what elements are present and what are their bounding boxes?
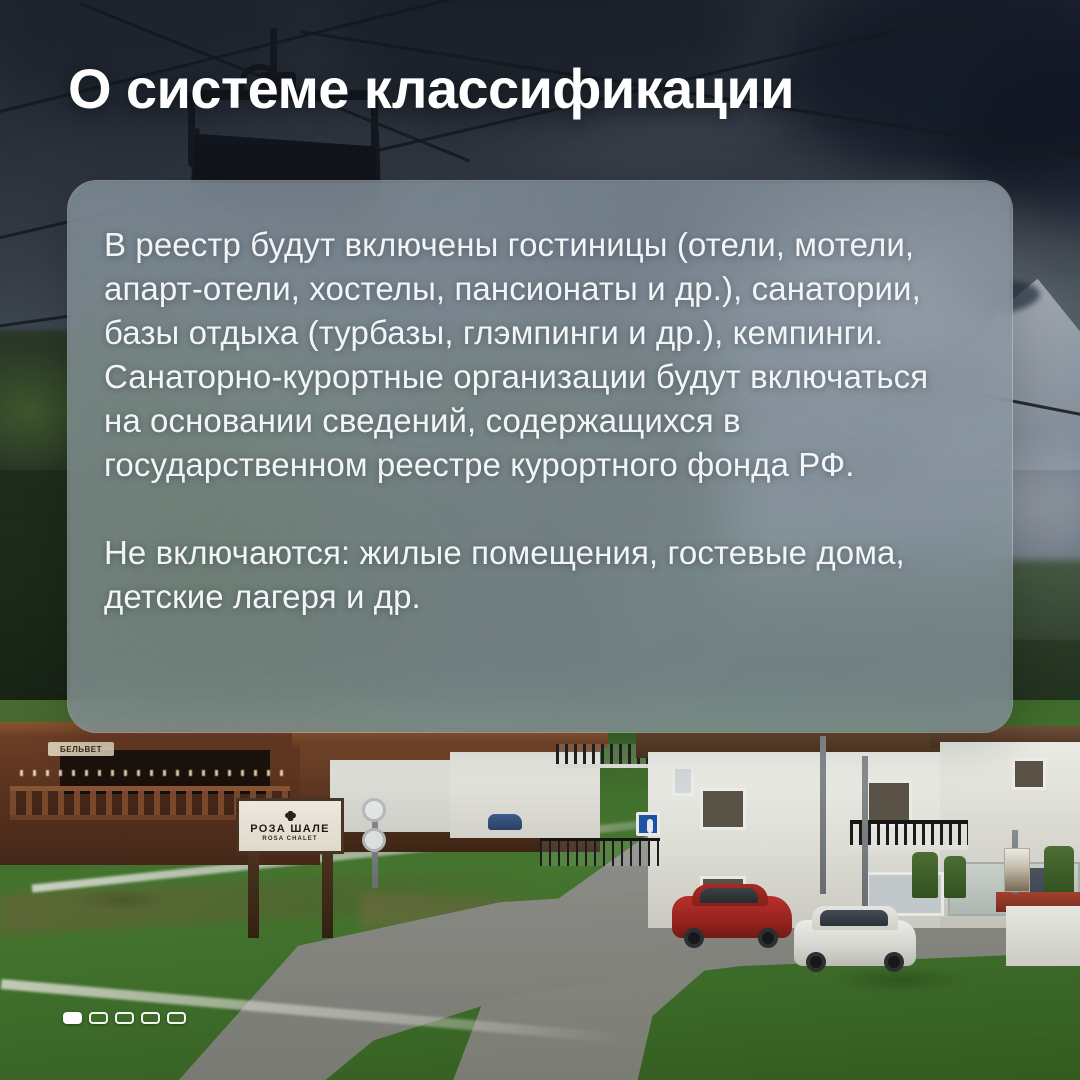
- poster-board: [1004, 848, 1030, 892]
- string-lights: [20, 770, 290, 776]
- wheel: [758, 928, 778, 948]
- window: [700, 788, 746, 830]
- shed: [1006, 906, 1080, 966]
- distant-car: [488, 814, 522, 830]
- rosa-chalet-sign: РОЗА ШАЛЕ ROSA CHALET: [236, 798, 344, 854]
- pagination-dot-1[interactable]: [63, 1012, 82, 1024]
- rosa-chalet-sign-ru: РОЗА ШАЛЕ: [250, 823, 330, 835]
- wheel: [684, 928, 704, 948]
- rosa-chalet-sign-en: ROSA CHALET: [262, 836, 317, 842]
- white-building-a: [330, 760, 450, 832]
- window: [1012, 758, 1046, 790]
- red-suv-window: [700, 888, 758, 903]
- pagination-dot-4[interactable]: [141, 1012, 160, 1024]
- sign-post: [322, 852, 333, 938]
- shrub: [1044, 846, 1074, 896]
- sign-post: [248, 852, 259, 938]
- chalet-name-sign: БЕЛЬВЕТ: [48, 742, 114, 756]
- pagination-dot-3[interactable]: [115, 1012, 134, 1024]
- round-road-sign: [362, 798, 386, 822]
- paragraph-included: В реестр будут включены гостиницы (отели…: [104, 223, 966, 487]
- iron-fence: [540, 838, 660, 866]
- pagination[interactable]: [63, 1012, 186, 1024]
- card-body: В реестр будут включены гостиницы (отели…: [68, 181, 1012, 619]
- wheel: [884, 952, 904, 972]
- shrub: [912, 852, 938, 898]
- shrub: [944, 856, 966, 898]
- lamp-post: [820, 736, 826, 894]
- white-suv-window: [820, 910, 888, 926]
- window: [672, 766, 694, 796]
- pagination-dot-5[interactable]: [167, 1012, 186, 1024]
- round-road-sign: [362, 828, 386, 852]
- paragraph-excluded: Не включаются: жилые помещения, гостевые…: [104, 531, 966, 619]
- flower-icon: [284, 811, 297, 821]
- wheel: [806, 952, 826, 972]
- slide-root: БЕЛЬВЕТ РОЗА ШАЛЕ ROSA CHALET: [0, 0, 1080, 1080]
- lamp-post: [862, 756, 868, 916]
- page-title: О системе классификации: [68, 60, 794, 119]
- pagination-dot-2[interactable]: [89, 1012, 108, 1024]
- pedestrian-road-sign: [636, 812, 660, 836]
- content-card: В реестр будут включены гостиницы (отели…: [67, 180, 1013, 733]
